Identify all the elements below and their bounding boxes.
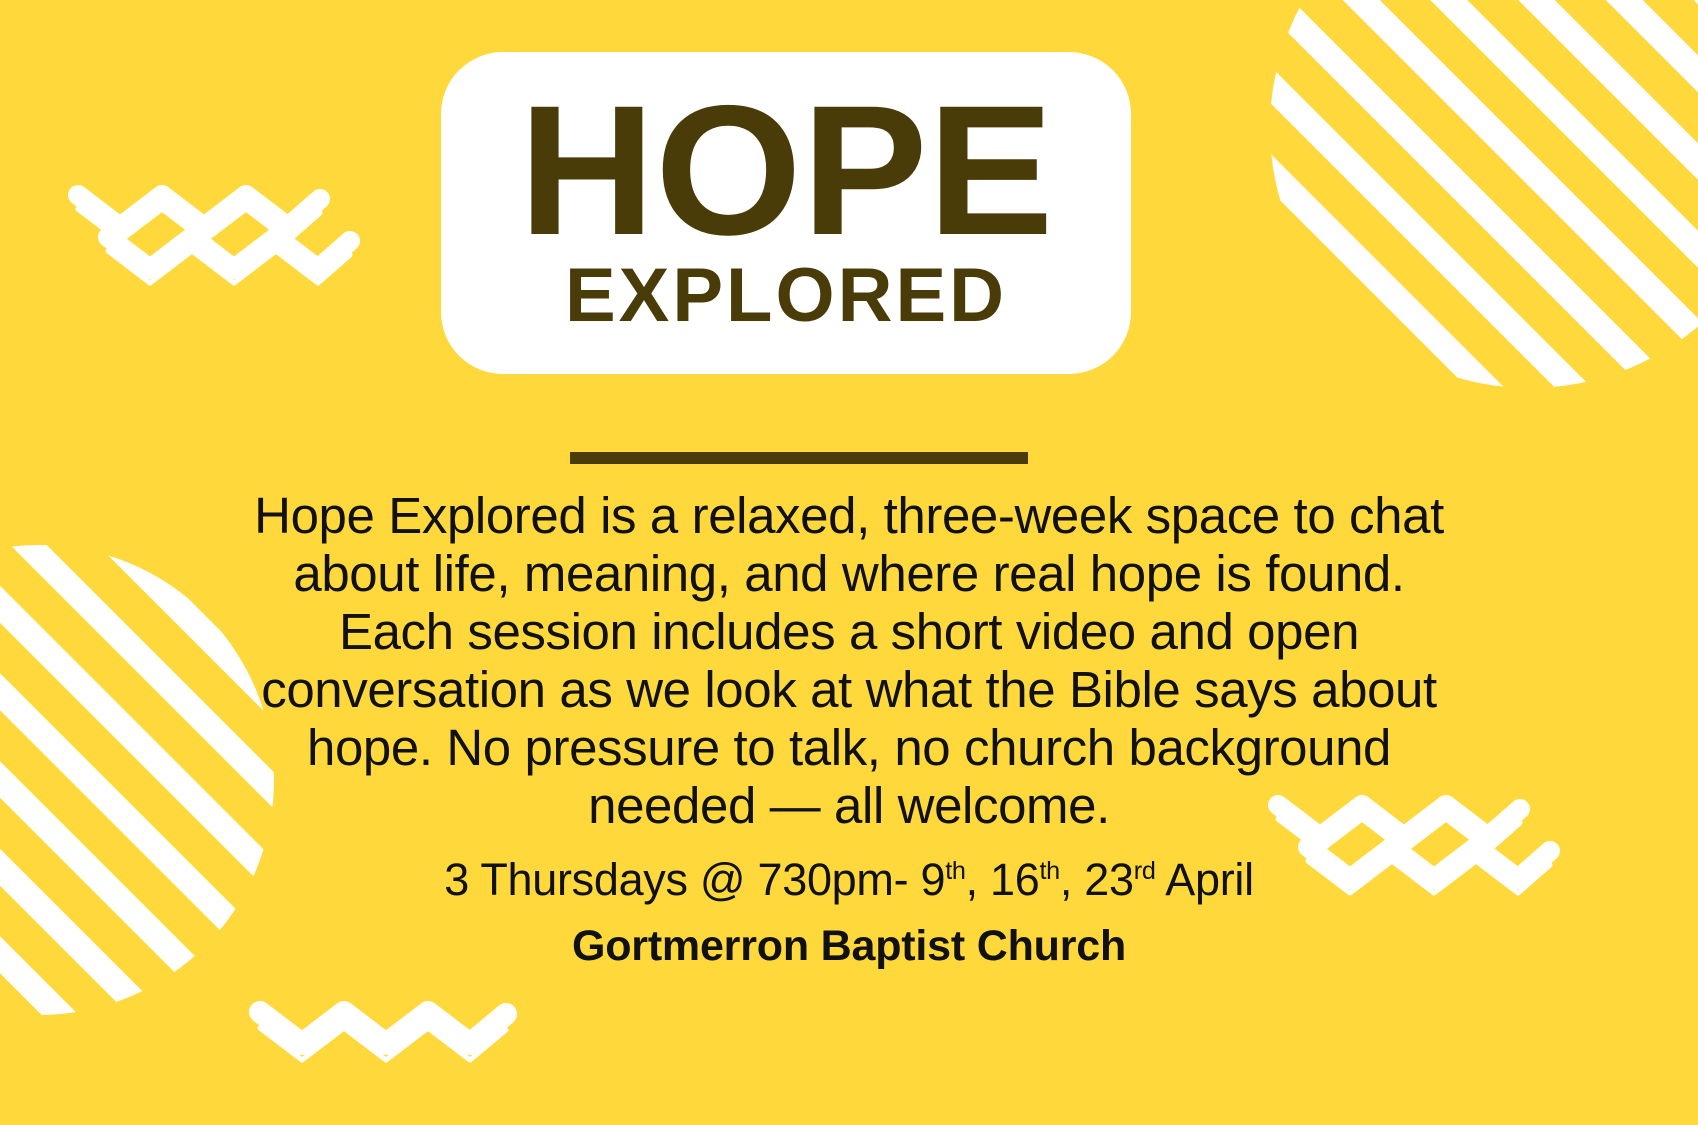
striped-circle-top-right-icon (1270, 0, 1698, 388)
zigzag-squiggle-top-left-icon (68, 165, 338, 275)
divider (570, 452, 1028, 464)
schedule-mid-1: , 16 (966, 854, 1040, 905)
poster-canvas: HOPE EXPLORED Hope Explored is a relaxed… (0, 0, 1698, 1125)
schedule-prefix: 3 Thursdays @ 730pm- 9 (444, 854, 945, 905)
striped-circle-bottom-left-icon (0, 545, 274, 1015)
logo-title: HOPE (519, 92, 1054, 251)
zigzag-squiggle-bottom-left-icon (248, 960, 538, 1070)
stripe-pattern (0, 545, 274, 1015)
schedule-line: 3 Thursdays @ 730pm- 9th, 16th, 23rd Apr… (250, 852, 1448, 908)
footer-block: 3 Thursdays @ 730pm- 9th, 16th, 23rd Apr… (250, 852, 1448, 972)
stripe-pattern (1270, 0, 1698, 388)
ordinal-suffix-2: th (1039, 857, 1059, 885)
ordinal-suffix-1: th (945, 857, 965, 885)
schedule-suffix: April (1156, 854, 1254, 905)
logo-card: HOPE EXPLORED (441, 52, 1131, 374)
body-paragraph: Hope Explored is a relaxed, three-week s… (250, 487, 1448, 835)
ordinal-suffix-3: rd (1134, 857, 1156, 885)
schedule-mid-2: , 23 (1060, 854, 1134, 905)
church-name: Gortmerron Baptist Church (250, 920, 1448, 972)
